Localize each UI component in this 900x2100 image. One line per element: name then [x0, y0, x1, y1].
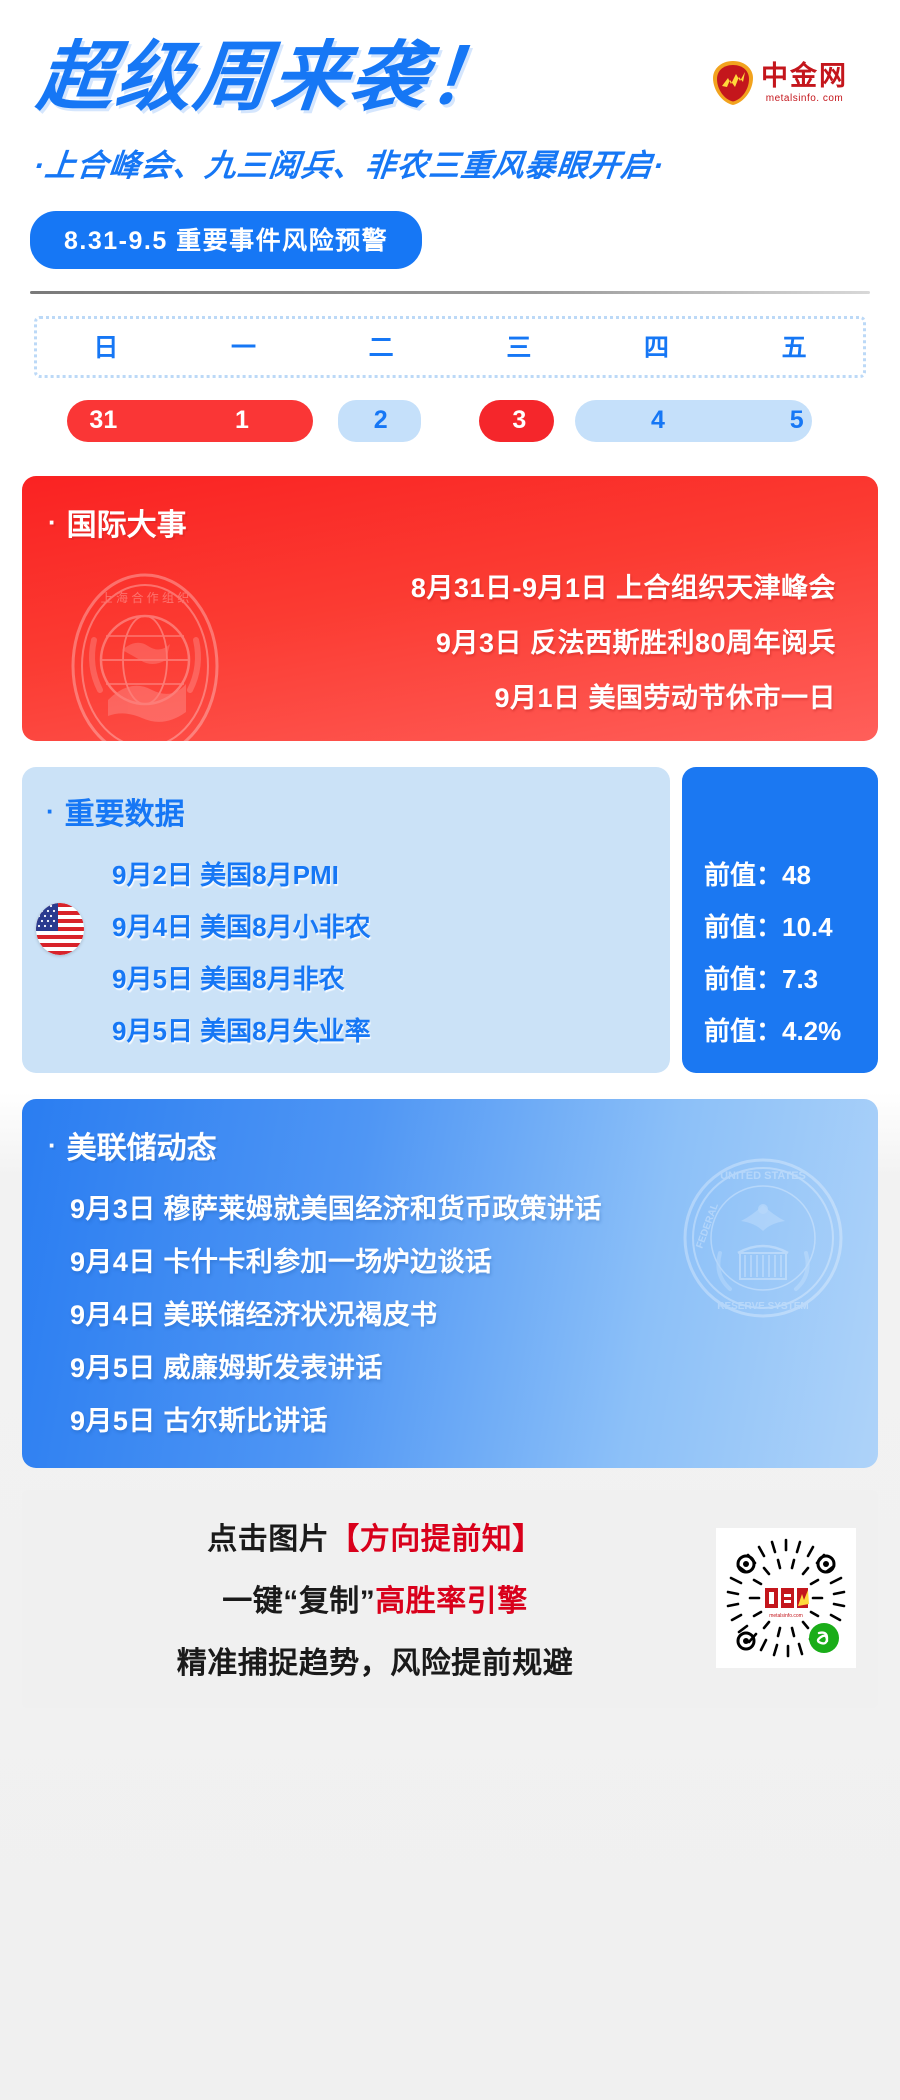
list-item: 9月5日 美国8月非农: [112, 961, 646, 995]
calendar-weekday-row: 日 一 二 三 四 五: [34, 316, 866, 378]
international-event-list: 8月31日-9月1日 上合组织天津峰会 9月3日 反法西斯胜利80周年阅兵 9月…: [48, 566, 852, 715]
footer-text-block: 点击图片【方向提前知】 一键“复制”高胜率引擎 精准捕捉趋势，风险提前规避: [44, 1514, 716, 1682]
heading-label: 美联储动态: [67, 1123, 217, 1167]
footer-line-1-highlight: 【方向提前知】: [329, 1523, 543, 1556]
calendar-date-row: 31 1 2 3 4 5: [34, 400, 866, 442]
list-item: 9月5日 美国8月失业率: [112, 1013, 646, 1047]
weekday-wed: 三: [450, 328, 588, 364]
list-item: 9月2日 美国8月PMI: [112, 857, 646, 891]
logo-text: 中金网 metalsinfo. com: [761, 63, 848, 104]
zhongjinwang-shield-icon: [712, 60, 754, 106]
date-2[interactable]: 2: [311, 400, 450, 442]
list-item: 9月5日 威廉姆斯发表讲话: [70, 1346, 852, 1385]
list-item: 8月31日-9月1日 上合组织天津峰会: [411, 566, 836, 605]
us-flag-icon: [36, 903, 84, 955]
heading-bullet-icon: ·: [46, 798, 55, 824]
footer-line-2-highlight: 高胜率引擎: [375, 1585, 528, 1618]
section-important-data: · 重要数据: [22, 767, 878, 1073]
list-item: 9月1日 美国劳动节休市一日: [494, 676, 836, 715]
date-3[interactable]: 3: [450, 400, 589, 442]
weekday-thu: 四: [588, 328, 726, 364]
list-item: 前值：10.4: [704, 909, 878, 943]
list-item: 9月4日 卡什卡利参加一场炉边谈话: [70, 1240, 852, 1279]
header-divider: [30, 291, 870, 294]
heading-bullet-icon: ·: [48, 1132, 57, 1158]
weekday-sun: 日: [37, 328, 175, 364]
date-4[interactable]: 4: [589, 400, 728, 442]
footer-line-1: 点击图片【方向提前知】: [207, 1514, 543, 1558]
header: 超级周来袭！ 中金网 metalsinfo. com ·上合峰会、九三阅兵、非农…: [0, 0, 900, 185]
infographic-page: 超级周来袭！ 中金网 metalsinfo. com ·上合峰会、九三阅兵、非农…: [0, 0, 900, 2100]
data-event-list: 9月2日 美国8月PMI 9月4日 美国8月小非农 9月5日 美国8月非农 9月…: [46, 857, 646, 1047]
page-title: 超级周来袭！: [26, 38, 510, 118]
list-item: 前值：48: [704, 857, 878, 891]
qr-code[interactable]: metalsinfo.com: [716, 1528, 856, 1668]
heading-label: 国际大事: [67, 500, 187, 544]
date-1[interactable]: 1: [173, 400, 312, 442]
section-fed-updates: UNITED STATES RESERVE SYSTEM FEDERAL · 美…: [22, 1099, 878, 1468]
list-item: 前值：4.2%: [704, 1013, 878, 1047]
calendar: 日 一 二 三 四 五 31 1 2 3 4 5: [34, 316, 866, 442]
footer-cta[interactable]: 点击图片【方向提前知】 一键“复制”高胜率引擎 精准捕捉趋势，风险提前规避: [22, 1490, 878, 1708]
section-heading-international: · 国际大事: [48, 500, 852, 544]
section-international-events: 上 海 合 作 组 织 ШОС · Организация · 国际大事 8月3…: [22, 476, 878, 741]
list-item: 9月3日 穆萨莱姆就美国经济和货币政策讲话: [70, 1187, 852, 1226]
footer-line-1-prefix: 点击图片: [207, 1523, 329, 1556]
footer-line-2-prefix: 一键“复制”: [222, 1585, 375, 1618]
previous-values-list: 前值：48 前值：10.4 前值：7.3 前值：4.2%: [682, 857, 878, 1047]
weekday-tue: 二: [312, 328, 450, 364]
date-range-banner: 8.31-9.5 重要事件风险预警: [30, 211, 422, 269]
logo-name-en: metalsinfo. com: [766, 93, 844, 104]
logo-name-cn: 中金网: [761, 63, 848, 90]
page-subtitle: ·上合峰会、九三阅兵、非农三重风暴眼开启·: [28, 140, 667, 185]
list-item: 前值：7.3: [704, 961, 878, 995]
footer-line-3: 精准捕捉趋势，风险提前规避: [177, 1638, 574, 1682]
section-heading-data: · 重要数据: [46, 789, 646, 833]
weekday-fri: 五: [725, 328, 863, 364]
svg-text:UNITED STATES: UNITED STATES: [720, 1170, 806, 1182]
date-5[interactable]: 5: [727, 400, 866, 442]
wechat-miniprogram-qr-icon: metalsinfo.com: [716, 1528, 856, 1668]
weekday-mon: 一: [175, 328, 313, 364]
svg-text:metalsinfo.com: metalsinfo.com: [769, 1613, 803, 1619]
date-31[interactable]: 31: [34, 400, 173, 442]
fed-event-list: 9月3日 穆萨莱姆就美国经济和货币政策讲话 9月4日 卡什卡利参加一场炉边谈话 …: [48, 1187, 852, 1438]
heading-bullet-icon: ·: [48, 509, 57, 535]
list-item: 9月4日 美联储经济状况褐皮书: [70, 1293, 852, 1332]
section-heading-fed: · 美联储动态: [48, 1123, 852, 1167]
list-item: 9月4日 美国8月小非农: [112, 909, 646, 943]
title-row: 超级周来袭！ 中金网 metalsinfo. com: [30, 38, 870, 118]
data-events-card: · 重要数据: [22, 767, 670, 1073]
footer-line-2: 一键“复制”高胜率引擎: [222, 1576, 528, 1620]
list-item: 9月3日 反法西斯胜利80周年阅兵: [436, 621, 836, 660]
list-item: 9月5日 古尔斯比讲话: [70, 1399, 852, 1438]
heading-label: 重要数据: [65, 789, 185, 833]
brand-logo[interactable]: 中金网 metalsinfo. com: [712, 60, 848, 106]
previous-values-card: 前值：48 前值：10.4 前值：7.3 前值：4.2%: [682, 767, 878, 1073]
